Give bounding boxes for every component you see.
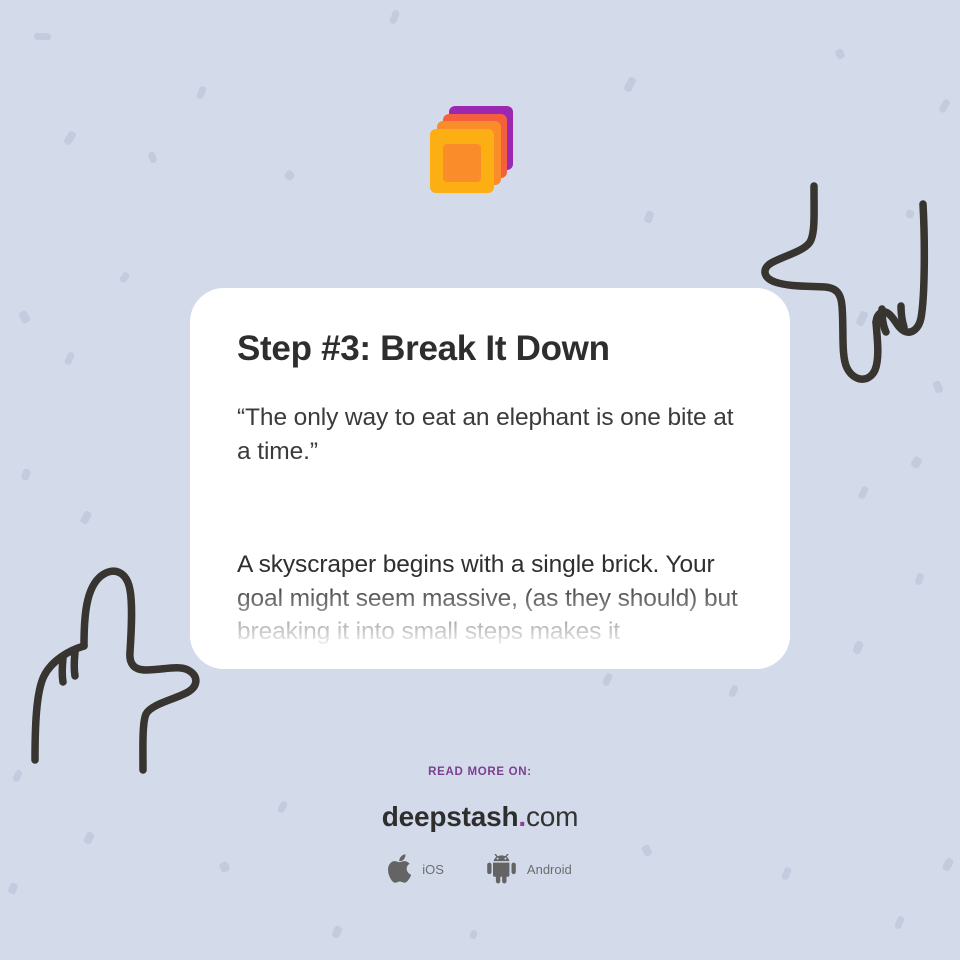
confetti-speck bbox=[79, 510, 92, 525]
confetti-speck bbox=[894, 915, 905, 930]
store-badges: iOS Android bbox=[0, 854, 960, 884]
android-store-label: Android bbox=[527, 862, 572, 877]
confetti-speck bbox=[858, 485, 870, 500]
page-title: Step #3: Break It Down bbox=[237, 328, 743, 370]
confetti-speck bbox=[910, 455, 923, 469]
ios-store-badge[interactable]: iOS bbox=[388, 854, 444, 884]
android-store-badge[interactable]: Android bbox=[485, 854, 572, 884]
wordmark-tld: com bbox=[526, 801, 578, 832]
apple-icon bbox=[388, 854, 413, 884]
wordmark-name: deepstash bbox=[382, 801, 519, 832]
confetti-speck bbox=[932, 380, 944, 394]
idea-card: Step #3: Break It Down “The only way to … bbox=[190, 288, 790, 669]
confetti-speck bbox=[196, 85, 208, 100]
confetti-speck bbox=[18, 310, 32, 325]
confetti-speck bbox=[834, 48, 846, 61]
confetti-speck bbox=[147, 151, 157, 164]
confetti-speck bbox=[728, 684, 739, 698]
card-body-text: A skyscraper begins with a single brick.… bbox=[237, 548, 743, 669]
confetti-speck bbox=[283, 169, 296, 182]
deepstash-logo bbox=[425, 100, 525, 200]
confetti-speck bbox=[914, 572, 925, 586]
confetti-speck bbox=[855, 310, 868, 327]
read-more-label: READ MORE ON: bbox=[0, 766, 960, 778]
card-quote: “The only way to eat an elephant is one … bbox=[237, 401, 743, 468]
confetti-speck bbox=[20, 468, 31, 481]
confetti-speck bbox=[623, 76, 637, 93]
confetti-speck bbox=[643, 210, 654, 224]
android-icon bbox=[485, 854, 518, 884]
confetti-speck bbox=[938, 98, 951, 114]
wordmark-dot: . bbox=[518, 801, 526, 832]
confetti-speck bbox=[389, 9, 401, 25]
confetti-speck bbox=[469, 929, 479, 940]
confetti-speck bbox=[602, 672, 614, 687]
confetti-speck bbox=[852, 640, 865, 655]
confetti-speck bbox=[331, 925, 343, 939]
pointing-hand-left-icon bbox=[18, 558, 208, 783]
confetti-speck bbox=[118, 271, 130, 284]
confetti-speck bbox=[905, 209, 914, 218]
confetti-speck bbox=[63, 130, 77, 146]
deepstash-wordmark[interactable]: deepstash.com bbox=[0, 801, 960, 833]
confetti-speck bbox=[34, 33, 51, 41]
ios-store-label: iOS bbox=[422, 862, 444, 877]
footer: READ MORE ON: deepstash.com iOS bbox=[0, 766, 960, 884]
poster-canvas: Step #3: Break It Down “The only way to … bbox=[0, 0, 960, 960]
confetti-speck bbox=[64, 351, 76, 366]
